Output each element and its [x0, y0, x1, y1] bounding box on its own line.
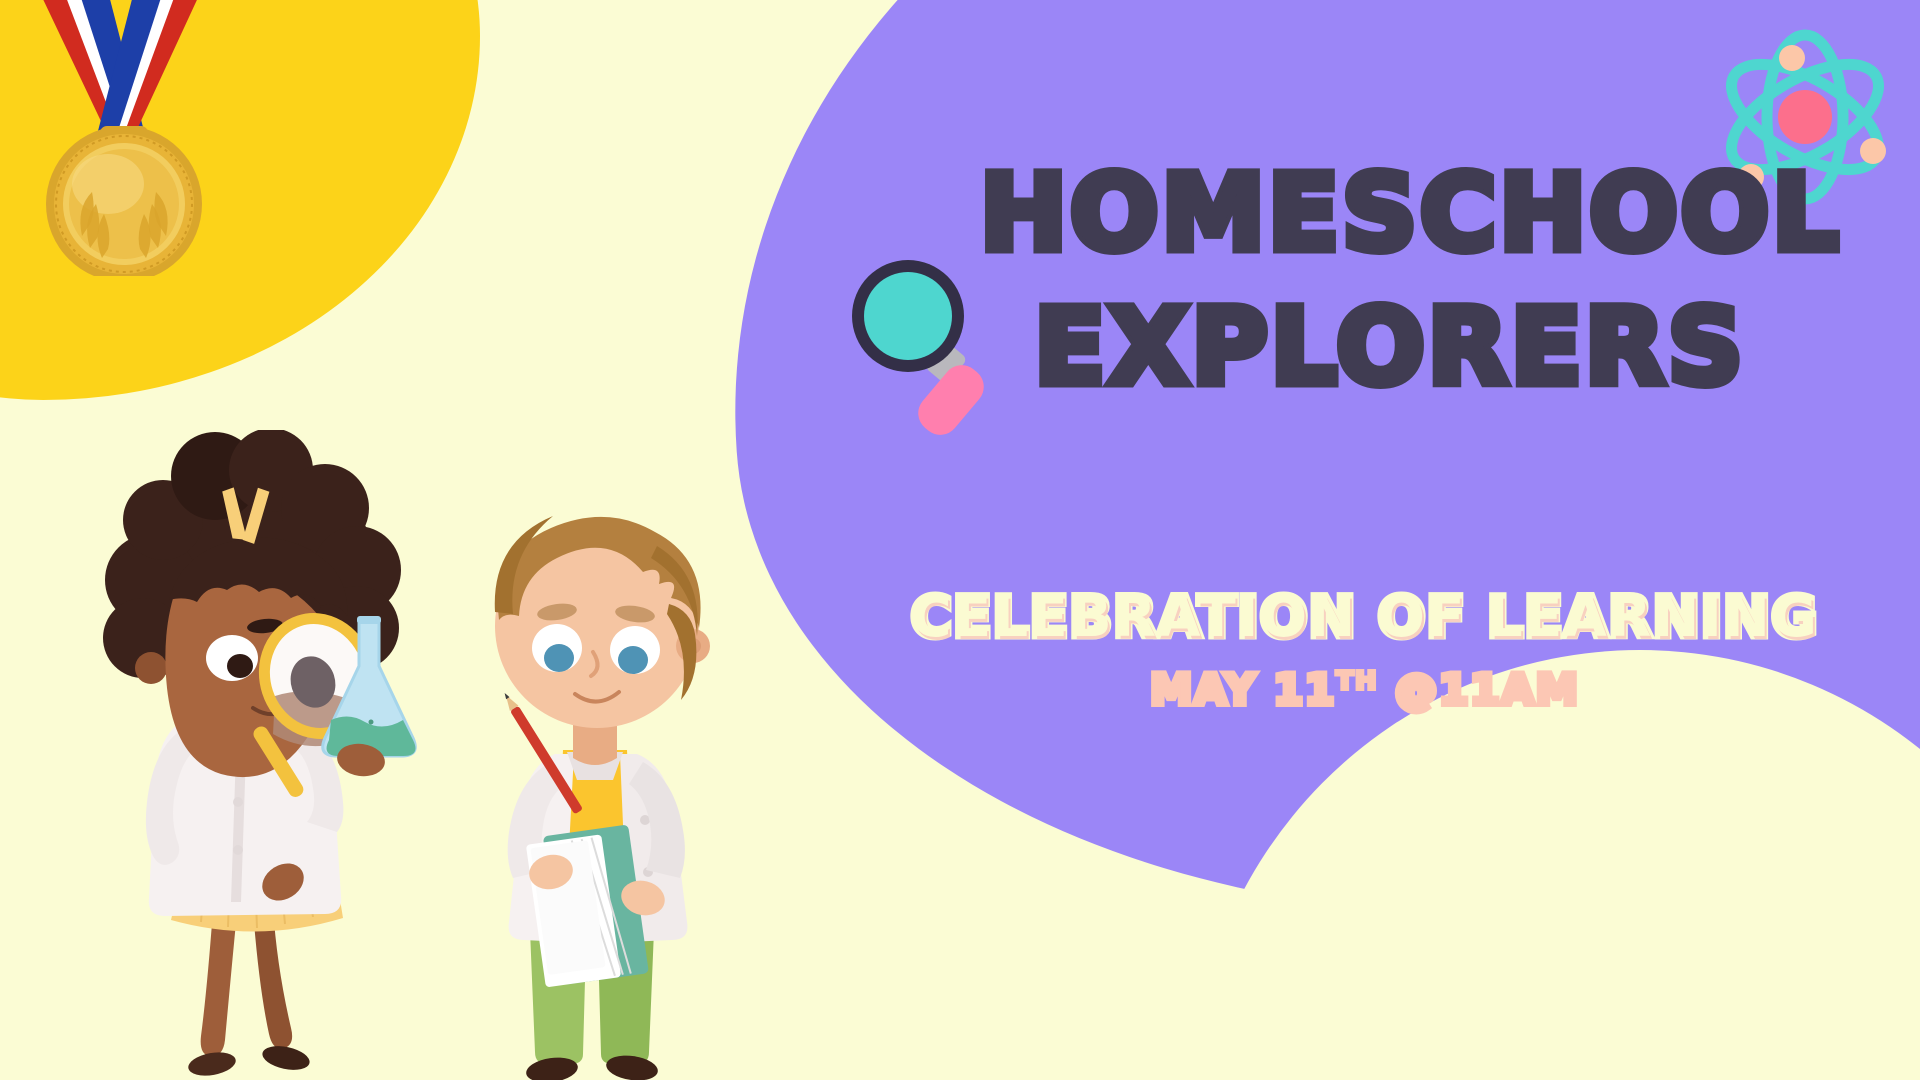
poster-subtitle-block: CELEBRATION OF LEARNING MAY 11TH @11AM: [860, 585, 1870, 714]
gold-medal-icon: [12, 0, 242, 276]
poster-date-suffix: @11AM: [1378, 665, 1579, 714]
girl-scientist-illustration: [85, 430, 430, 1080]
poster-title-line-2: EXPLORERS: [980, 294, 1800, 400]
poster-date-line: MAY 11TH @11AM: [860, 665, 1870, 714]
poster-title-block: HOMESCHOOL EXPLORERS: [980, 160, 1800, 400]
poster-subtitle: CELEBRATION OF LEARNING: [860, 585, 1870, 649]
poster-date-prefix: MAY 11: [1150, 665, 1336, 714]
poster-canvas: HOMESCHOOL EXPLORERS CELEBRATION OF LEAR…: [0, 0, 1920, 1080]
poster-title-line-1: HOMESCHOOL: [980, 160, 1800, 266]
poster-date-ordinal: TH: [1336, 666, 1378, 695]
boy-scientist-illustration: [455, 500, 745, 1080]
